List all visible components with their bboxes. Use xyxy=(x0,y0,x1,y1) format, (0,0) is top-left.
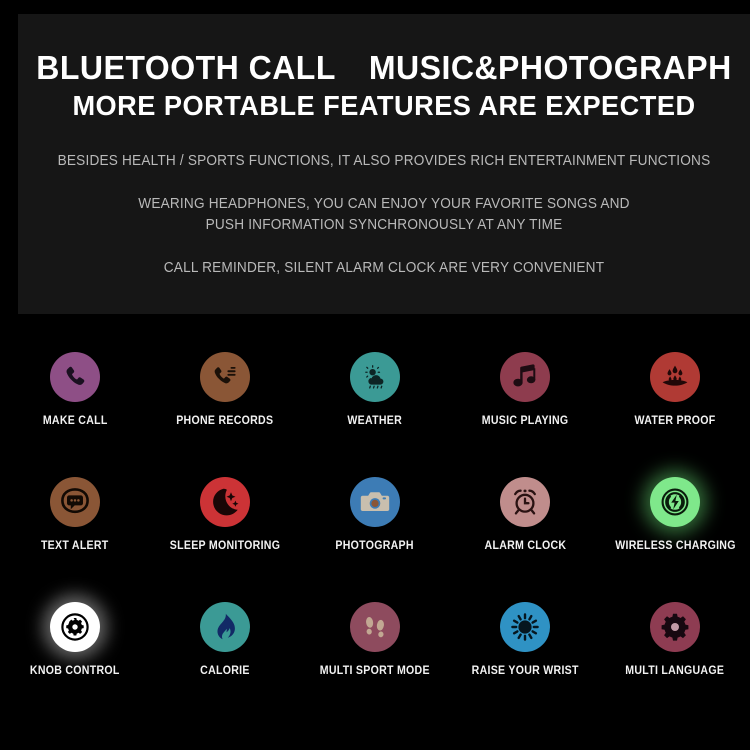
feature-cell[interactable]: MULTI LANGUAGE xyxy=(600,602,750,727)
feature-label: WEATHER xyxy=(348,415,403,427)
feature-cell[interactable]: CALORIE xyxy=(150,602,300,727)
feature-cell[interactable]: WIRELESS CHARGING xyxy=(600,477,750,602)
feature-cell[interactable]: TEXT ALERT xyxy=(0,477,150,602)
feature-row: MAKE CALL PHONE RECORDS xyxy=(0,352,750,477)
feature-row: TEXT ALERT SLEEP MONITORING PHOTOGRAPH xyxy=(0,477,750,602)
title-right: MUSIC&PHOTOGRAPH xyxy=(369,49,732,86)
feature-grid: MAKE CALL PHONE RECORDS xyxy=(0,352,750,727)
music-note-icon[interactable] xyxy=(500,352,550,402)
body-line-2: WEARING HEADPHONES, YOU CAN ENJOY YOUR F… xyxy=(40,194,728,215)
feature-cell[interactable]: PHONE RECORDS xyxy=(150,352,300,477)
feature-cell[interactable]: KNOB CONTROL xyxy=(0,602,150,727)
feature-label: KNOB CONTROL xyxy=(30,665,120,677)
page-title: BLUETOOTH CALLMUSIC&PHOTOGRAPH xyxy=(29,50,739,87)
feature-label: MULTI LANGUAGE xyxy=(626,665,725,677)
body-line-4: CALL REMINDER, SILENT ALARM CLOCK ARE VE… xyxy=(40,258,728,279)
feature-label: TEXT ALERT xyxy=(41,540,109,552)
weather-icon[interactable] xyxy=(350,352,400,402)
flame-icon[interactable] xyxy=(200,602,250,652)
title-left: BLUETOOTH CALL xyxy=(36,49,336,86)
gear-knob-icon[interactable] xyxy=(50,602,100,652)
header-body: BESIDES HEALTH / SPORTS FUNCTIONS, IT AL… xyxy=(18,151,750,279)
wireless-charging-icon[interactable] xyxy=(650,477,700,527)
feature-cell[interactable]: WEATHER xyxy=(300,352,450,477)
page-root: BLUETOOTH CALLMUSIC&PHOTOGRAPH MORE PORT… xyxy=(0,0,750,750)
feature-cell[interactable]: MUSIC PLAYING xyxy=(450,352,600,477)
feature-label: WIRELESS CHARGING xyxy=(615,540,735,552)
feature-label: MULTI SPORT MODE xyxy=(320,665,430,677)
feature-label: PHOTOGRAPH xyxy=(336,540,414,552)
feature-cell[interactable]: MULTI SPORT MODE xyxy=(300,602,450,727)
feature-cell[interactable]: PHOTOGRAPH xyxy=(300,477,450,602)
phone-records-icon[interactable] xyxy=(200,352,250,402)
feature-cell[interactable]: RAISE YOUR WRIST xyxy=(450,602,600,727)
body-line-1: BESIDES HEALTH / SPORTS FUNCTIONS, IT AL… xyxy=(40,151,728,172)
speech-bubble-icon[interactable] xyxy=(50,477,100,527)
alarm-clock-icon[interactable] xyxy=(500,477,550,527)
phone-icon[interactable] xyxy=(50,352,100,402)
feature-label: WATER PROOF xyxy=(634,415,715,427)
feature-label: CALORIE xyxy=(200,665,250,677)
page-subtitle: MORE PORTABLE FEATURES ARE EXPECTED xyxy=(29,90,739,121)
feature-cell[interactable]: MAKE CALL xyxy=(0,352,150,477)
gear-icon[interactable] xyxy=(650,602,700,652)
radial-dash-icon[interactable] xyxy=(500,602,550,652)
feature-label: ALARM CLOCK xyxy=(484,540,566,552)
feature-cell[interactable]: WATER PROOF xyxy=(600,352,750,477)
feature-label: SLEEP MONITORING xyxy=(170,540,280,552)
camera-icon[interactable] xyxy=(350,477,400,527)
feature-label: PHONE RECORDS xyxy=(176,415,273,427)
feature-row: KNOB CONTROLCALORIE MULTI SPORT MODERAIS… xyxy=(0,602,750,727)
footprints-icon[interactable] xyxy=(350,602,400,652)
feature-cell[interactable]: SLEEP MONITORING xyxy=(150,477,300,602)
header-panel: BLUETOOTH CALLMUSIC&PHOTOGRAPH MORE PORT… xyxy=(18,14,750,314)
feature-label: MAKE CALL xyxy=(43,415,108,427)
water-drop-icon[interactable] xyxy=(650,352,700,402)
feature-label: MUSIC PLAYING xyxy=(482,415,569,427)
body-line-3: PUSH INFORMATION SYNCHRONOUSLY AT ANY TI… xyxy=(40,215,728,236)
moon-stars-icon[interactable] xyxy=(200,477,250,527)
feature-label: RAISE YOUR WRIST xyxy=(471,665,578,677)
feature-cell[interactable]: ALARM CLOCK xyxy=(450,477,600,602)
